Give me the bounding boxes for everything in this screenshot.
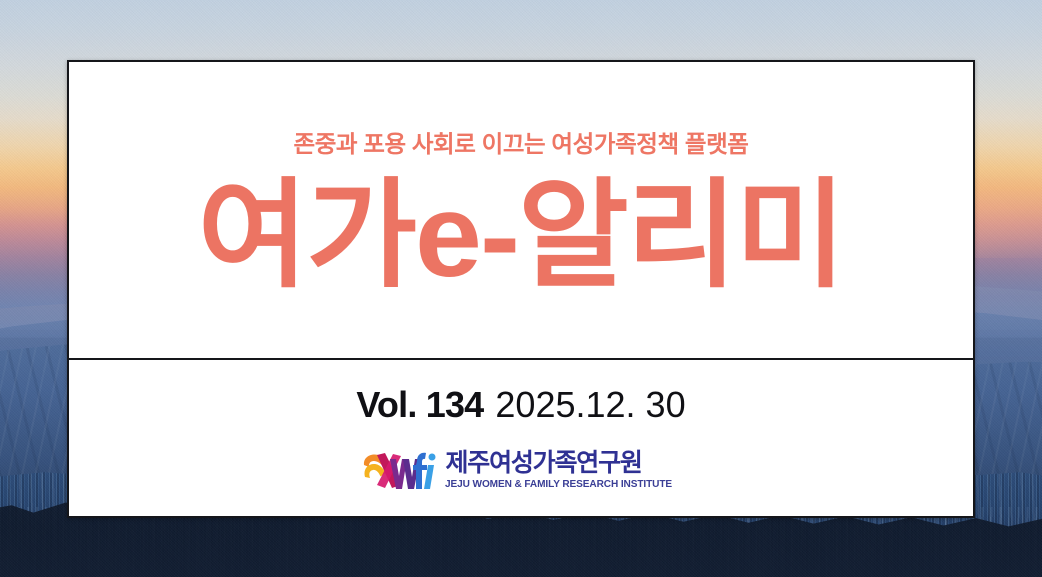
issue-date: 2025.12. 30 xyxy=(495,384,685,426)
logo-wordmark: 제주여성가족연구원 JEJU WOMEN & FAMILY RESEARCH I… xyxy=(445,451,679,490)
jwfi-logo-mark-icon xyxy=(362,448,436,494)
newsletter-card: 존중과 포용 사회로 이끄는 여성가족정책 플랫폼 여가e-알리미 Vol. 1… xyxy=(67,60,975,518)
issue-info: Vol. 134 2025.12. 30 xyxy=(356,384,685,426)
logo-korean-name: 제주여성가족연구원 xyxy=(445,451,641,476)
card-lower-section: Vol. 134 2025.12. 30 xyxy=(69,360,973,516)
tagline: 존중과 포용 사회로 이끄는 여성가족정책 플랫폼 xyxy=(293,125,748,159)
newsletter-poster: 존중과 포용 사회로 이끄는 여성가족정책 플랫폼 여가e-알리미 Vol. 1… xyxy=(0,0,1042,577)
institute-logo: 제주여성가족연구원 JEJU WOMEN & FAMILY RESEARCH I… xyxy=(362,448,679,494)
card-upper-section: 존중과 포용 사회로 이끄는 여성가족정책 플랫폼 여가e-알리미 xyxy=(69,62,973,360)
volume-number: Vol. 134 xyxy=(356,384,483,426)
logo-english-name: JEJU WOMEN & FAMILY RESEARCH INSTITUTE xyxy=(445,480,672,490)
page-title: 여가e-알리미 xyxy=(198,177,844,295)
